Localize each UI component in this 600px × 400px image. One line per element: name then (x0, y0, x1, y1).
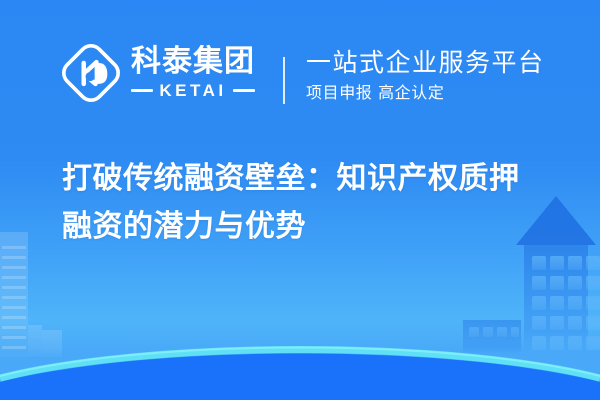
dash-left-icon (131, 89, 153, 92)
banner-header: 科泰集团 KETAI 一站式企业服务平台 项目申报 高企认定 (0, 0, 600, 140)
brand-logo[interactable]: 科泰集团 KETAI (62, 44, 255, 102)
kd-diamond-monogram-icon (62, 44, 120, 102)
brand-name-en-row: KETAI (131, 82, 255, 99)
tagline-block: 一站式企业服务平台 项目申报 高企认定 (306, 48, 545, 102)
page-title-line-2: 融资的潜力与优势 (62, 203, 562, 251)
dash-right-icon (233, 89, 255, 92)
page-title: 打破传统融资壁垒：知识产权质押 融资的潜力与优势 (62, 155, 562, 251)
tagline-sub: 项目申报 高企认定 (306, 83, 545, 102)
promo-banner: 科泰集团 KETAI 一站式企业服务平台 项目申报 高企认定 打破传统融资壁垒：… (0, 0, 600, 400)
tagline-main: 一站式企业服务平台 (306, 48, 545, 77)
curved-horizon-swoosh-icon (0, 310, 600, 400)
page-title-line-1: 打破传统融资壁垒：知识产权质押 (62, 155, 562, 203)
brand-name-en: KETAI (159, 82, 226, 99)
brand-wordmark: 科泰集团 KETAI (131, 47, 255, 99)
brand-name-cn: 科泰集团 (131, 47, 255, 77)
vertical-divider (283, 57, 285, 104)
